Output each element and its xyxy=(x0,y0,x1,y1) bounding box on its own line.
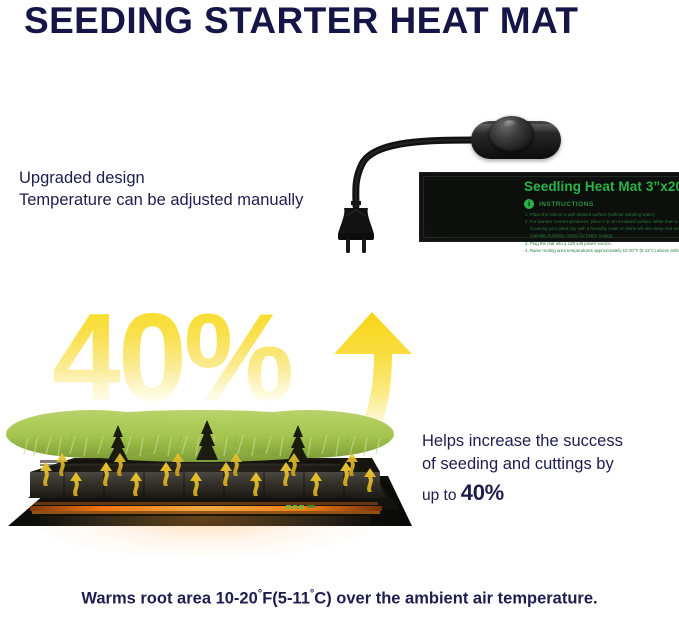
caption-pre: Warms root area 10-20 xyxy=(81,590,257,608)
benefit-description: Helps increase the success of seeding an… xyxy=(422,430,672,508)
benefit-line-1: Helps increase the success xyxy=(422,430,672,453)
instructions-list: 1. Place the mat on a well drained surfa… xyxy=(525,211,679,254)
feature-line-1: Upgraded design xyxy=(19,168,303,190)
instruction-item: 4. Raise rooting area temperatures appro… xyxy=(525,247,679,254)
feature-description: Upgraded design Temperature can be adjus… xyxy=(19,168,303,212)
instructions-heading-row: i INSTRUCTIONS xyxy=(524,199,594,209)
info-icon: i xyxy=(524,199,534,209)
benefit-upto-label: up to xyxy=(422,487,461,504)
mat-label-title: Seedling Heat Mat 3”x20” xyxy=(524,179,679,194)
caption-c: C) over the ambient air temperature. xyxy=(314,590,597,608)
heat-mat-product: Seedling Heat Mat 3”x20” i INSTRUCTIONS … xyxy=(419,172,679,242)
instruction-item: maintain humidity control for better roo… xyxy=(525,232,679,239)
instructions-heading: INSTRUCTIONS xyxy=(539,201,594,208)
caption-f: F(5-11 xyxy=(262,590,310,608)
marketing-infographic: SEEDING STARTER HEAT MAT Upgraded design… xyxy=(0,0,679,619)
dial-highlight xyxy=(504,120,517,127)
heat-mat-illustration xyxy=(0,398,420,558)
plug-body xyxy=(338,201,374,253)
bottom-caption: Warms root area 10-20°F(5-11°C) over the… xyxy=(0,588,679,609)
instruction-item: 1. Place the mat on a well drained surfa… xyxy=(525,211,679,218)
benefit-value: 40% xyxy=(461,480,504,505)
instruction-item: 2. For warmer root temperatures, place i… xyxy=(525,218,679,225)
benefit-line-3: up to 40% xyxy=(422,477,672,508)
feature-line-2: Temperature can be adjusted manually xyxy=(19,190,303,212)
instruction-item: 3. Plug the mat into a 120 volt power so… xyxy=(525,240,679,247)
page-title: SEEDING STARTER HEAT MAT xyxy=(24,0,578,44)
instruction-item: Covering your plant tray with a humidity… xyxy=(525,225,679,232)
heat-glow xyxy=(40,516,370,556)
benefit-line-2: of seeding and cuttings by xyxy=(422,453,672,476)
seedling-canopy xyxy=(6,410,394,462)
